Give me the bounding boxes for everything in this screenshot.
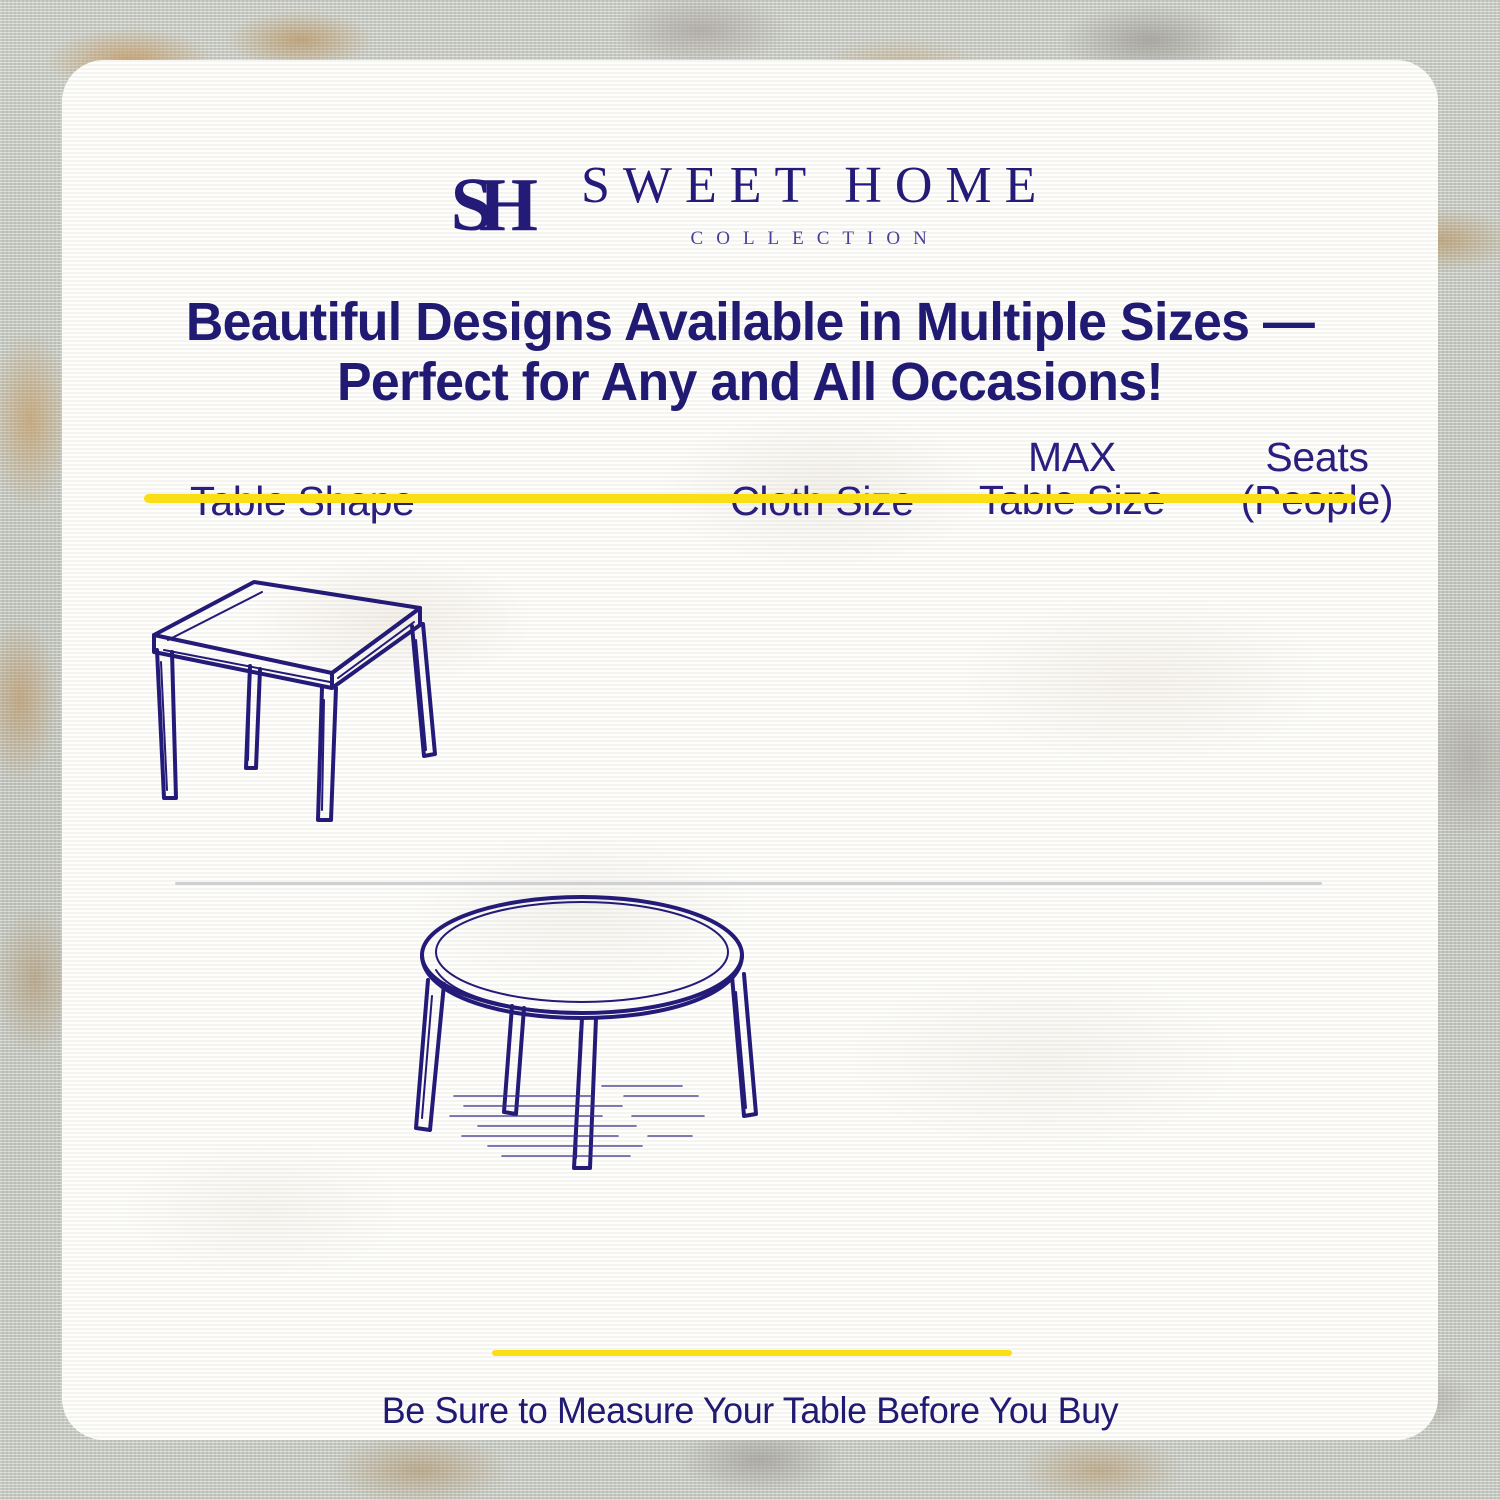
sh-monogram-icon: SH — [451, 167, 524, 243]
brand-wordmark: SWEET HOME COLLECTION — [568, 160, 1049, 250]
yellow-divider-bottom — [492, 1350, 1012, 1356]
infographic-card: SH SWEET HOME COLLECTION Beautiful Desig… — [62, 60, 1438, 1440]
column-header-seats-line1: Seats — [1265, 434, 1368, 480]
brand-logo: SH SWEET HOME COLLECTION — [62, 160, 1438, 250]
column-header-seats: Seats (People) — [1172, 436, 1438, 523]
round-table-icon — [392, 880, 772, 1180]
page-title: Beautiful Designs Available in Multiple … — [157, 292, 1344, 413]
brand-subtitle: COLLECTION — [678, 228, 940, 250]
yellow-divider-top — [144, 494, 1356, 503]
table-column-headers: Table Shape Cloth Size MAX Table Size Se… — [132, 432, 1368, 542]
square-table-icon — [142, 570, 542, 830]
column-header-max-line1: MAX — [1028, 434, 1116, 480]
brand-name: SWEET HOME — [568, 160, 1049, 212]
footer-note: Be Sure to Measure Your Table Before You… — [83, 1390, 1418, 1432]
